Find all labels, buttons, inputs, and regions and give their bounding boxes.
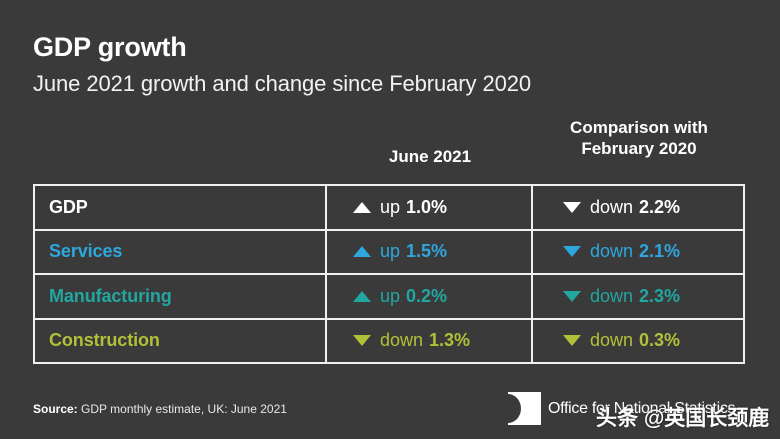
table-row: GDP up 1.0% down 2.2% [35,186,743,231]
arrow-down-icon [563,335,581,346]
arrow-down-icon [353,335,371,346]
cell-manufacturing-comparison: down 2.3% [533,275,741,318]
row-label-services: Services [35,231,327,274]
table-row: Manufacturing up 0.2% down 2.3% [35,275,743,320]
cell-services-comparison: down 2.1% [533,231,741,274]
arrow-up-icon [353,202,371,213]
source-label: Source: [33,402,78,416]
cell-manufacturing-june: up 0.2% [327,275,533,318]
row-label-manufacturing: Manufacturing [35,275,327,318]
column-header-comparison: Comparison with February 2020 [533,118,745,160]
arrow-down-icon [563,246,581,257]
gdp-growth-infographic: GDP growth June 2021 growth and change s… [0,0,780,439]
source-text: GDP monthly estimate, UK: June 2021 [81,402,287,416]
cell-construction-comparison: down 0.3% [533,320,741,363]
source-note: Source: GDP monthly estimate, UK: June 2… [33,402,287,416]
page-title: GDP growth [33,32,187,63]
table-row: Construction down 1.3% down 0.3% [35,320,743,363]
arrow-up-icon [353,291,371,302]
page-subtitle: June 2021 growth and change since Februa… [33,71,531,97]
row-label-construction: Construction [35,320,327,363]
cell-gdp-comparison: down 2.2% [533,186,741,229]
cell-construction-june: down 1.3% [327,320,533,363]
cell-services-june: up 1.5% [327,231,533,274]
watermark: 头条 @英国长颈鹿 [596,402,769,432]
table-row: Services up 1.5% down 2.1% [35,231,743,276]
ons-logo-icon [508,392,541,425]
row-label-gdp: GDP [35,186,327,229]
arrow-down-icon [563,202,581,213]
column-header-comparison-line2: February 2020 [581,139,696,158]
gdp-table: GDP up 1.0% down 2.2% Services up 1.5% [33,184,745,364]
column-header-june-2021: June 2021 [327,147,533,168]
arrow-up-icon [353,246,371,257]
arrow-down-icon [563,291,581,302]
cell-gdp-june: up 1.0% [327,186,533,229]
column-header-comparison-line1: Comparison with [570,118,708,137]
